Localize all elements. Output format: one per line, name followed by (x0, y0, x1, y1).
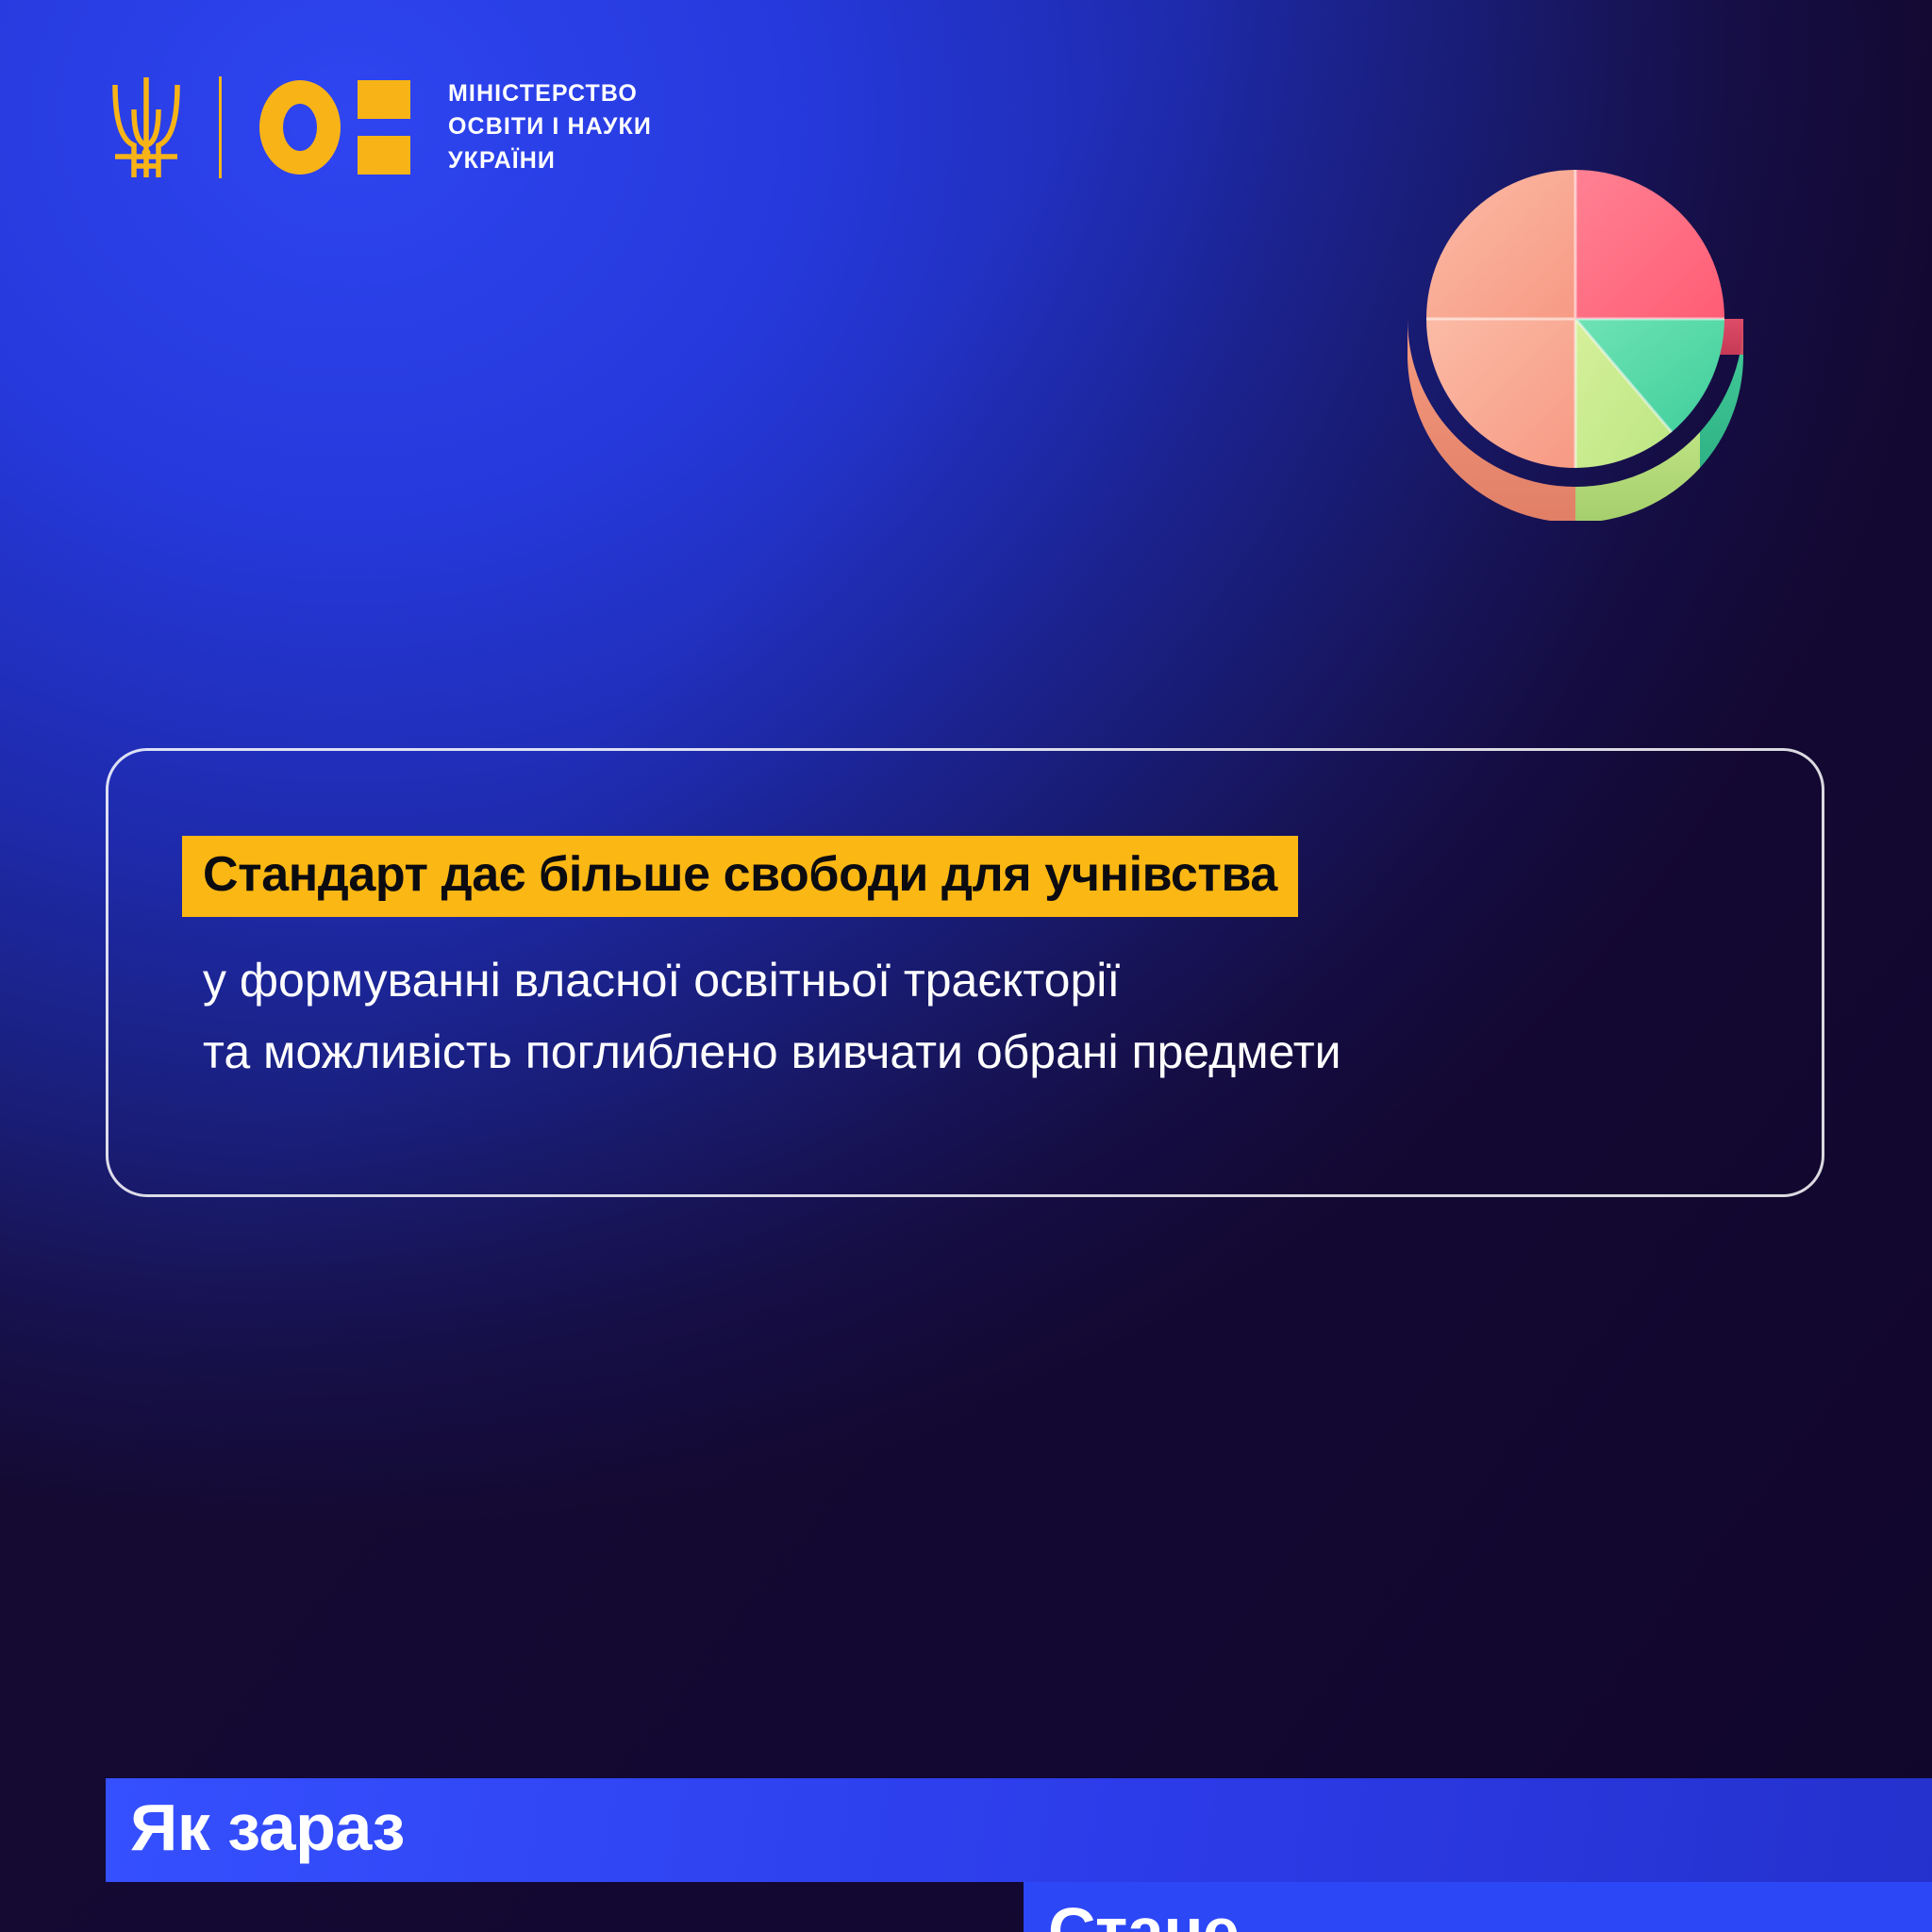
ministry-name: МІНІСТЕРСТВО ОСВІТИ І НАУКИ УКРАЇНИ (448, 77, 652, 178)
hero-body-line-1: у формуванні власної освітньої траєкторі… (203, 944, 1341, 1016)
ukraine-trident-icon (106, 72, 187, 183)
hero-body-line-2: та можливість поглиблено вивчати обрані … (203, 1016, 1341, 1088)
ministry-line-2: ОСВІТИ І НАУКИ (448, 110, 652, 144)
ministry-line-3: УКРАЇНИ (448, 144, 652, 178)
logo-o-shape (259, 80, 341, 175)
hero-highlight-band: Стандарт дає більше свободи для учнівств… (182, 836, 1298, 917)
3d-pie-chart-icon (1389, 170, 1762, 521)
logo-divider (219, 76, 222, 178)
mon-o-equals-logo-icon (259, 80, 410, 175)
hero-highlight-text: Стандарт дає більше свободи для учнівств… (203, 847, 1277, 902)
ministry-line-1: МІНІСТЕРСТВО (448, 77, 652, 111)
comparison-grid: Дворічна старша середня освіта Трирічна … (0, 1124, 1932, 1932)
infographic-poster: МІНІСТЕРСТВО ОСВІТИ І НАУКИ УКРАЇНИ (0, 0, 1932, 1932)
hero-body-text: у формуванні власної освітньої траєкторі… (203, 944, 1341, 1088)
logo-equals-shape (358, 80, 410, 175)
ministry-logo-bar: МІНІСТЕРСТВО ОСВІТИ І НАУКИ УКРАЇНИ (106, 72, 1932, 183)
